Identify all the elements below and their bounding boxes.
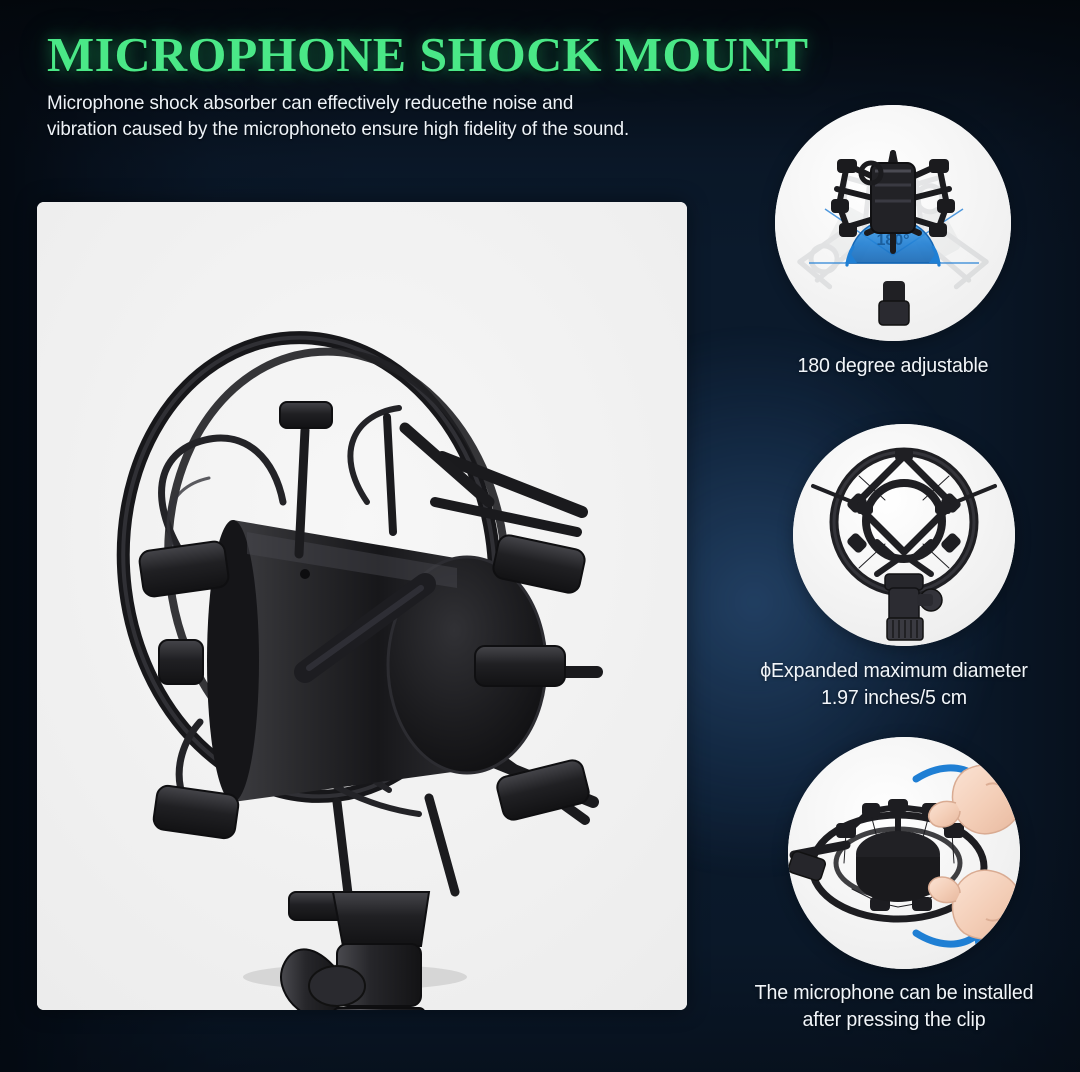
feature-1-caption: 180 degree adjustable	[719, 353, 1068, 380]
product-infographic: MICROPHONE SHOCK MOUNT Microphone shock …	[0, 0, 1080, 1072]
feature-3-caption-line-1: The microphone can be installed	[716, 980, 1073, 1007]
expanded-diameter-illustration	[793, 424, 1015, 646]
press-clip-illustration	[788, 737, 1020, 969]
feature-3-caption-line-2: after pressing the clip	[716, 1007, 1073, 1034]
subtitle-line-1: Microphone shock absorber can effectivel…	[47, 90, 809, 116]
page-title: MICROPHONE SHOCK MOUNT	[47, 30, 853, 80]
feature-1-image-circle: 180°	[775, 105, 1011, 341]
main-product-photo	[37, 202, 687, 1010]
180-degree-adjustable-illustration: 180°	[775, 105, 1011, 341]
feature-2-caption-line-1: ϕExpanded maximum diameter	[714, 658, 1075, 685]
feature-3-image-circle	[788, 737, 1020, 969]
feature-2-caption-line-2: 1.97 inches/5 cm	[714, 685, 1075, 712]
header: MICROPHONE SHOCK MOUNT Microphone shock …	[47, 30, 837, 142]
main-product-panel	[37, 202, 687, 1010]
subtitle-line-2: vibration caused by the microphoneto ens…	[47, 116, 809, 142]
feature-3-caption: The microphone can be installed after pr…	[716, 980, 1073, 1034]
feature-2-caption: ϕExpanded maximum diameter 1.97 inches/5…	[714, 658, 1075, 712]
feature-2-image-circle	[793, 424, 1015, 646]
feature-1-caption-line-1: 180 degree adjustable	[719, 353, 1068, 380]
